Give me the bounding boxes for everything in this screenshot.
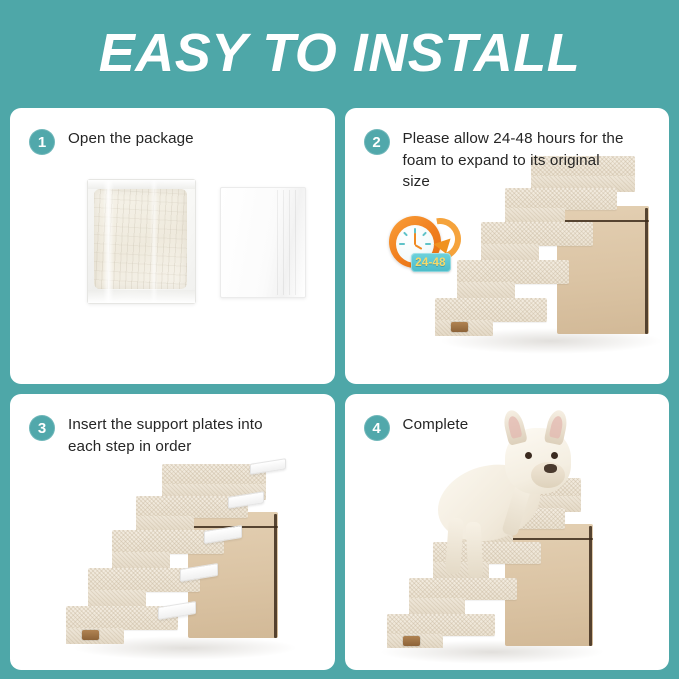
step-card-4: 4 Complete: [345, 394, 670, 670]
zipper-side: [645, 208, 648, 334]
brand-leather-tag: [403, 636, 420, 646]
tread-3: [481, 222, 593, 246]
dog-eye-right: [551, 452, 558, 459]
plate-edge: [295, 190, 296, 295]
step-card-1: 1 Open the package: [10, 108, 335, 384]
tread-1: [387, 614, 495, 636]
step-number-badge-3: 3: [29, 415, 55, 441]
page-title: EASY TO INSTALL: [99, 26, 581, 80]
dog-hind-leg: [445, 518, 464, 575]
infographic-page: EASY TO INSTALL: [0, 0, 679, 679]
step-3-text: Insert the support plates into each step…: [68, 414, 300, 457]
step-number-badge-1: 1: [29, 129, 55, 155]
support-plate-5: [250, 458, 286, 475]
step-number-badge-2: 2: [364, 129, 390, 155]
step-card-3: 3 Insert the support plates into each st…: [10, 394, 335, 670]
hours-badge: 24-48: [411, 253, 451, 272]
step-number-badge-4: 4: [364, 415, 390, 441]
bag-highlight-1: [103, 180, 114, 303]
vacuum-sealed-foam-bag: [87, 179, 196, 304]
step-2-text: Please allow 24-48 hours for the foam to…: [403, 128, 631, 193]
step-1-header: 1 Open the package: [29, 128, 321, 155]
plate-edge: [277, 190, 278, 295]
step-card-2: 24-48 2 Please allow 24-48 hours for the…: [345, 108, 670, 384]
clock-tick: [399, 243, 405, 245]
step-3-header: 3 Insert the support plates into each st…: [29, 414, 321, 457]
step-1-text: Open the package: [68, 128, 194, 150]
pet-stairs-with-plates: [62, 460, 312, 660]
plate-edge: [289, 190, 290, 295]
title-bar: EASY TO INSTALL: [0, 0, 679, 105]
dog-nose: [544, 464, 557, 473]
support-plate-stack: [220, 187, 306, 298]
plate-edge: [283, 190, 284, 295]
bag-highlight-2: [150, 180, 158, 303]
dog-eye-left: [525, 452, 532, 459]
dog-hind-leg-2: [465, 522, 483, 579]
tread-1: [435, 298, 547, 322]
zipper-side: [274, 514, 277, 638]
brand-leather-tag: [82, 630, 99, 640]
brand-leather-tag: [451, 322, 468, 332]
clock-tick: [403, 232, 408, 237]
tread-2: [457, 260, 569, 284]
step-4-text: Complete: [403, 414, 469, 436]
step-2-header: 2 Please allow 24-48 hours for the foam …: [364, 128, 656, 193]
clock-icon: 24-48: [389, 214, 451, 276]
steps-grid: 1 Open the package: [10, 108, 669, 670]
step-4-header: 4 Complete: [364, 414, 656, 441]
